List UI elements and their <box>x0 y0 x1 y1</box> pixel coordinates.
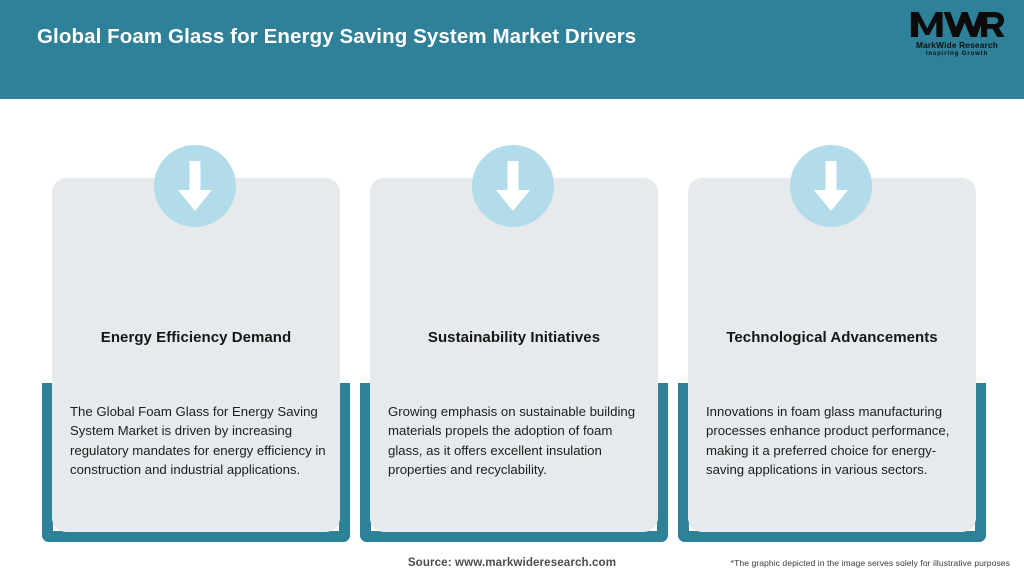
card-surface: Sustainability Initiatives Growing empha… <box>370 178 658 532</box>
card-surface: Energy Efficiency Demand The Global Foam… <box>52 178 340 532</box>
mwr-monogram-icon <box>909 9 1005 39</box>
down-arrow-icon <box>811 159 851 213</box>
brand-logo: MarkWide Research Inspiring Growth <box>903 9 1011 58</box>
driver-card-3: Technological Advancements Innovations i… <box>666 99 996 544</box>
down-arrow-icon <box>493 159 533 213</box>
header-band: Global Foam Glass for Energy Saving Syst… <box>0 0 1024 99</box>
driver-cards-container: Energy Efficiency Demand The Global Foam… <box>0 99 1024 544</box>
card-title: Sustainability Initiatives <box>384 328 644 347</box>
down-arrow-icon <box>175 159 215 213</box>
card-title: Technological Advancements <box>702 328 962 347</box>
card-badge <box>790 145 872 227</box>
card-description: The Global Foam Glass for Energy Saving … <box>70 402 326 480</box>
driver-card-2: Sustainability Initiatives Growing empha… <box>348 99 678 544</box>
card-description: Innovations in foam glass manufacturing … <box>706 402 962 480</box>
card-description: Growing emphasis on sustainable building… <box>388 402 644 480</box>
disclaimer-label: *The graphic depicted in the image serve… <box>731 558 1010 568</box>
logo-tagline: Inspiring Growth <box>903 50 1011 58</box>
card-surface: Technological Advancements Innovations i… <box>688 178 976 532</box>
card-title: Energy Efficiency Demand <box>66 328 326 347</box>
card-badge <box>472 145 554 227</box>
driver-card-1: Energy Efficiency Demand The Global Foam… <box>30 99 360 544</box>
card-badge <box>154 145 236 227</box>
logo-company-name: MarkWide Research <box>903 40 1011 50</box>
page-title: Global Foam Glass for Energy Saving Syst… <box>37 25 636 49</box>
